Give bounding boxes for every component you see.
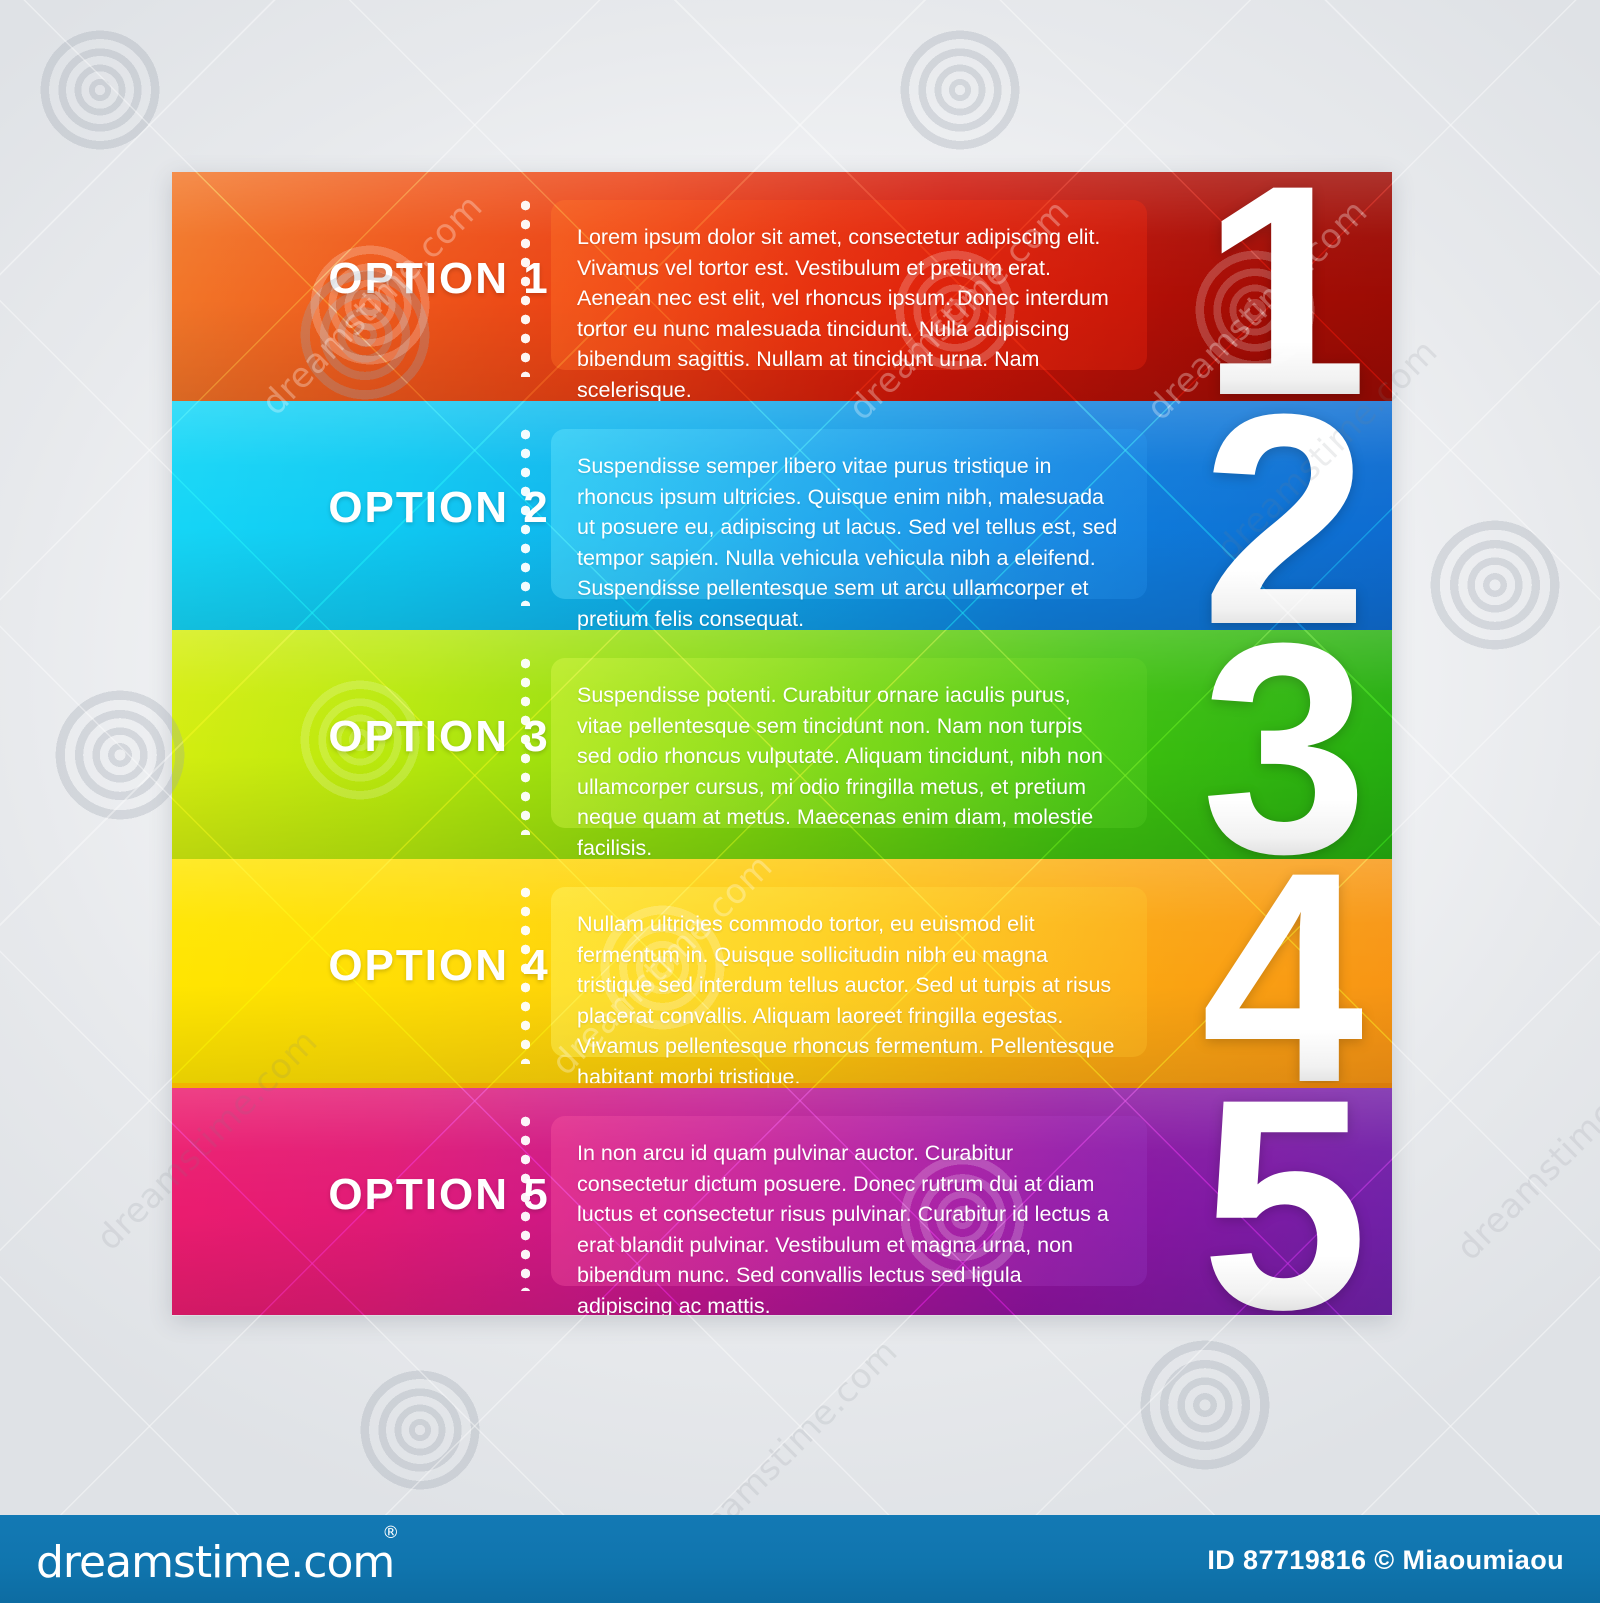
dotted-divider (521, 883, 530, 1064)
watermark-text: dreamstime.com (1449, 1032, 1600, 1269)
dotted-divider (521, 425, 530, 606)
option-band-3[interactable]: OPTION 3 Suspendisse potenti. Curabitur … (172, 630, 1392, 859)
infographic-panel: OPTION 1 Lorem ipsum dolor sit amet, con… (172, 172, 1392, 1315)
option-numeral-3: 3 (1201, 631, 1362, 859)
footer-bar: dreamstime.com ® ID 87719816 © Miaoumiao… (0, 1515, 1600, 1603)
option-description-4: Nullam ultricies commodo tortor, eu euis… (551, 887, 1147, 1057)
option-numeral-4: 4 (1201, 860, 1362, 1088)
option-band-1[interactable]: OPTION 1 Lorem ipsum dolor sit amet, con… (172, 172, 1392, 401)
option-numeral-2: 2 (1201, 402, 1362, 630)
dotted-divider (521, 1112, 530, 1291)
option-description-5: In non arcu id quam pulvinar auctor. Cur… (551, 1116, 1147, 1286)
option-description-2: Suspendisse semper libero vitae purus tr… (551, 429, 1147, 599)
option-band-5[interactable]: OPTION 5 In non arcu id quam pulvinar au… (172, 1088, 1392, 1315)
option-numeral-1: 1 (1201, 173, 1362, 401)
watermark-spiral (360, 1370, 480, 1490)
dreamstime-logo[interactable]: dreamstime.com ® (36, 1537, 394, 1588)
watermark-spiral (1140, 1340, 1270, 1470)
option-band-2[interactable]: OPTION 2 Suspendisse semper libero vitae… (172, 401, 1392, 630)
watermark-spiral (1430, 520, 1560, 650)
option-description-3: Suspendisse potenti. Curabitur ornare ia… (551, 658, 1147, 828)
watermark-spiral (900, 30, 1020, 150)
option-band-4[interactable]: OPTION 4 Nullam ultricies commodo tortor… (172, 859, 1392, 1088)
dotted-divider (521, 196, 530, 377)
watermark-spiral (55, 690, 185, 820)
screenshot-canvas: dreamstime.com dreamstime.com dreamstime… (0, 0, 1600, 1603)
dreamstime-logo-text: dreamstime.com (36, 1537, 394, 1588)
registered-trademark-icon: ® (382, 1523, 398, 1543)
dotted-divider (521, 654, 530, 835)
option-description-1: Lorem ipsum dolor sit amet, consectetur … (551, 200, 1147, 370)
image-id-credit: ID 87719816 © Miaoumiaou (1207, 1545, 1564, 1576)
option-numeral-5: 5 (1201, 1088, 1362, 1315)
watermark-spiral (40, 30, 160, 150)
